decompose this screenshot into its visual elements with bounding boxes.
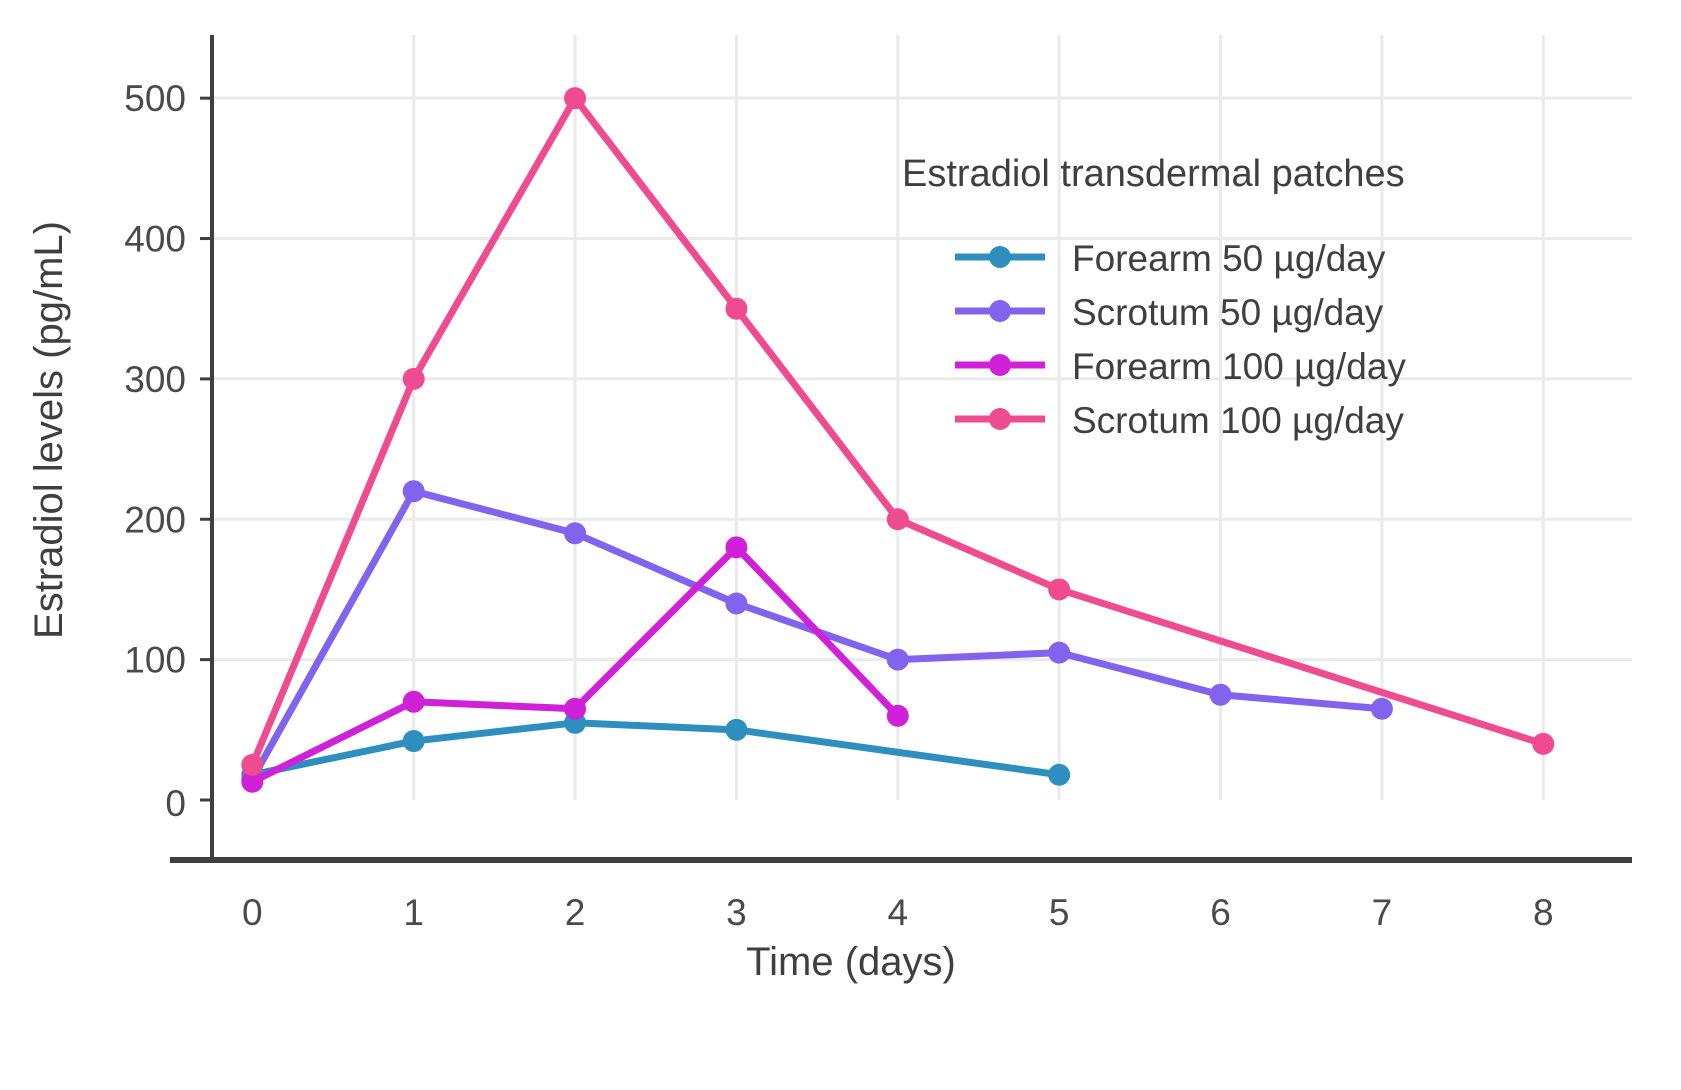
data-point-marker [403, 691, 425, 713]
legend-marker-swatch [989, 354, 1011, 376]
y-tick-label: 500 [124, 78, 186, 119]
x-tick-label: 8 [1533, 892, 1554, 933]
legend-label: Scrotum 50 µg/day [1072, 292, 1384, 333]
legend-item[interactable]: Scrotum 50 µg/day [955, 292, 1384, 333]
data-point-marker [403, 480, 425, 502]
series-line [252, 723, 1059, 775]
grid-lines [212, 35, 1632, 800]
legend-title: Estradiol transdermal patches [902, 153, 1405, 195]
legend-label: Forearm 100 µg/day [1072, 346, 1406, 387]
x-tick-label: 4 [888, 892, 909, 933]
legend-marker-swatch [989, 300, 1011, 322]
data-point-marker [1210, 684, 1232, 706]
legend-label: Scrotum 100 µg/day [1072, 400, 1404, 441]
data-point-marker [887, 705, 909, 727]
legend-label: Forearm 50 µg/day [1072, 238, 1386, 279]
legend-item[interactable]: Scrotum 100 µg/day [955, 400, 1404, 441]
x-axis-title: Time (days) [746, 940, 956, 984]
axis-lines [170, 35, 1632, 860]
y-axis-tick-labels: 0100200300400500 [124, 78, 186, 824]
data-point-marker [241, 754, 263, 776]
y-tick-label: 300 [124, 359, 186, 400]
data-point-marker [887, 649, 909, 671]
x-tick-label: 3 [726, 892, 747, 933]
x-tick-label: 1 [403, 892, 424, 933]
x-tick-label: 6 [1210, 892, 1231, 933]
chart-figure: 012345678 0100200300400500 Time (days) E… [0, 0, 1681, 1090]
y-axis-title: Estradiol levels (pg/mL) [27, 221, 71, 639]
data-point-marker [564, 522, 586, 544]
data-point-marker [725, 719, 747, 741]
data-point-marker [725, 536, 747, 558]
data-point-marker [725, 592, 747, 614]
data-point-marker [725, 298, 747, 320]
legend-marker-swatch [989, 408, 1011, 430]
y-tick-label: 200 [124, 499, 186, 540]
data-point-marker [1371, 698, 1393, 720]
x-tick-label: 7 [1372, 892, 1393, 933]
data-point-marker [887, 508, 909, 530]
data-point-marker [403, 730, 425, 752]
legend-item[interactable]: Forearm 100 µg/day [955, 346, 1406, 387]
y-tick-label: 0 [165, 783, 186, 824]
data-point-marker [1048, 764, 1070, 786]
x-axis-tick-labels: 012345678 [242, 892, 1553, 933]
legend: Forearm 50 µg/dayScrotum 50 µg/dayForear… [955, 238, 1406, 441]
data-point-marker [403, 368, 425, 390]
y-tick-label: 400 [124, 219, 186, 260]
data-point-marker [564, 87, 586, 109]
data-point-marker [564, 698, 586, 720]
x-tick-label: 2 [565, 892, 586, 933]
line-chart: 012345678 0100200300400500 Time (days) E… [0, 0, 1681, 1090]
legend-item[interactable]: Forearm 50 µg/day [955, 238, 1386, 279]
x-tick-label: 0 [242, 892, 263, 933]
data-point-marker [1048, 578, 1070, 600]
data-point-marker [1048, 642, 1070, 664]
data-point-marker [1532, 733, 1554, 755]
x-tick-label: 5 [1049, 892, 1070, 933]
y-tick-label: 100 [124, 640, 186, 681]
legend-marker-swatch [989, 246, 1011, 268]
